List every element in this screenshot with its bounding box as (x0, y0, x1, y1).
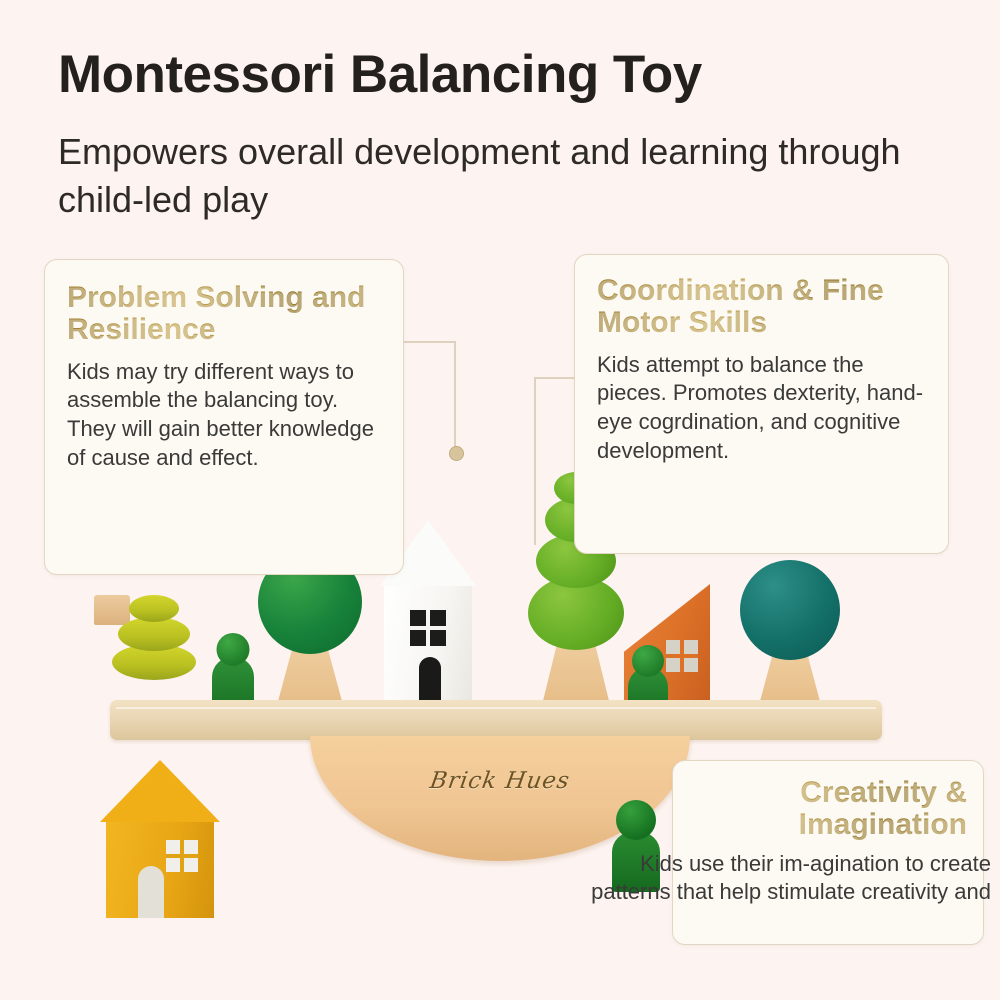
page-subtitle: Empowers overall development and learnin… (58, 128, 958, 223)
leader-line-1-horizontal (404, 341, 456, 343)
page-title: Montessori Balancing Toy (58, 44, 702, 105)
callout-body: Kids may try different ways to assemble … (67, 358, 383, 472)
toy-piece-green-peg-figure-right (628, 645, 668, 705)
toy-piece-yellow-house (100, 760, 220, 918)
callout-creativity: Creativity & Imagination Kids use their … (672, 760, 984, 945)
callout-heading: Problem Solving and Resilience (67, 282, 383, 347)
callout-heading: Coordination & Fine Motor Skills (597, 275, 930, 340)
callout-problem-solving: Problem Solving and Resilience Kids may … (44, 259, 404, 575)
toy-piece-lime-stacked-tree (112, 595, 196, 703)
callout-heading: Creativity & Imagination (691, 777, 967, 842)
toy-piece-teal-ball-tree (740, 560, 840, 705)
toy-piece-green-peg-figure (212, 633, 254, 705)
leader-line-2-horizontal (534, 377, 576, 379)
callout-body: Kids attempt to balance the pieces. Prom… (597, 351, 930, 465)
brand-logo-text: Brick Hues (308, 768, 692, 794)
callout-coordination: Coordination & Fine Motor Skills Kids at… (574, 254, 949, 554)
balance-beam (110, 700, 882, 740)
infographic-canvas: Montessori Balancing Toy Empowers overal… (0, 0, 1000, 1000)
callout-body: Kids use their im-agination to create pa… (571, 850, 991, 907)
